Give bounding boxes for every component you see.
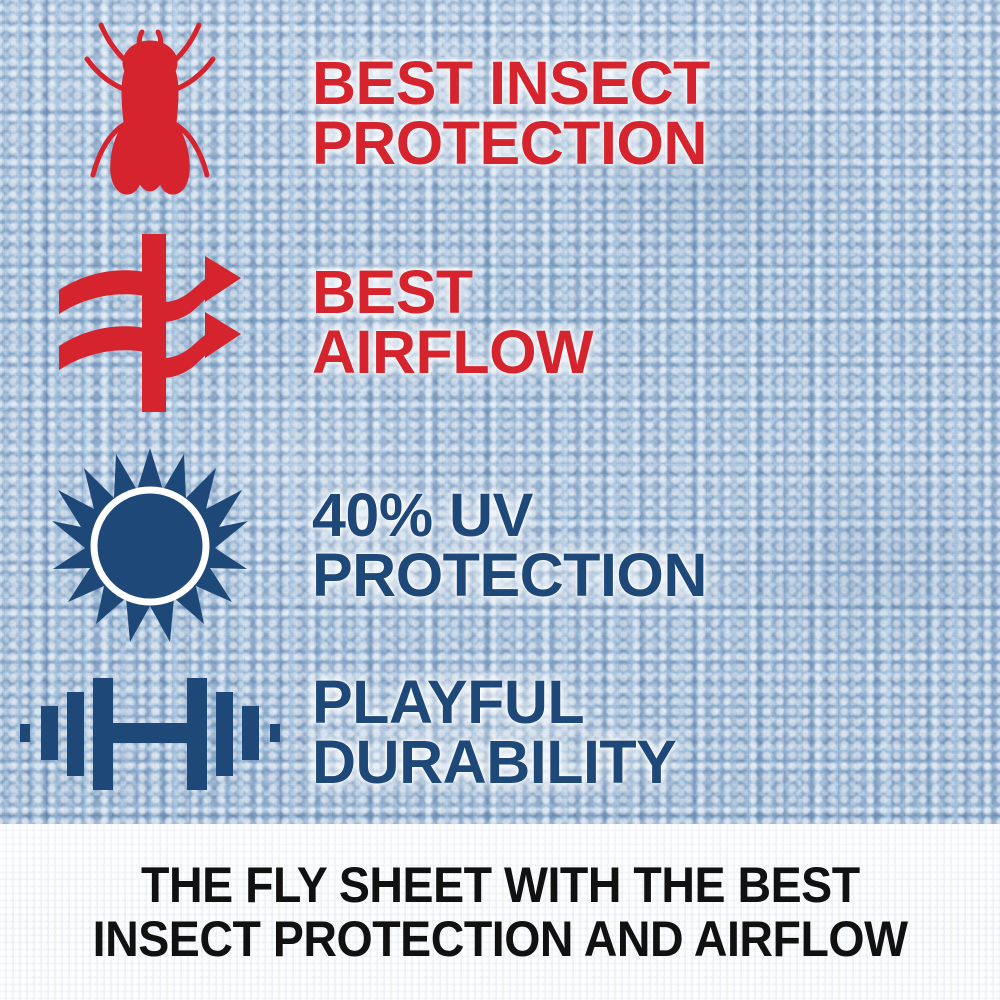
banner-headline-line: INSECT PROTECTION AND AIRFLOW xyxy=(93,912,908,966)
feature-icon-slot xyxy=(0,19,300,209)
banner-headline-line: THE FLY SHEET WITH THE BEST xyxy=(141,858,860,912)
feature-label-uv-protection: 40% UV PROTECTION xyxy=(300,486,1000,606)
feature-icon-slot xyxy=(0,228,300,418)
feature-row-airflow: BEST AIRFLOW xyxy=(0,218,1000,428)
feature-label-line: PROTECTION xyxy=(312,114,1000,174)
feature-label-line: PLAYFUL xyxy=(312,673,1000,733)
feature-label-durability: PLAYFUL DURABILITY xyxy=(300,673,1000,793)
feature-label-line: DURABILITY xyxy=(312,733,1000,793)
feature-label-line: PROTECTION xyxy=(312,546,1000,606)
feature-label-airflow: BEST AIRFLOW xyxy=(300,263,1000,383)
product-feature-poster: BEST INSECT PROTECTION xyxy=(0,0,1000,1000)
feature-icon-slot xyxy=(0,668,300,798)
dumbbell-icon xyxy=(15,668,285,798)
sun-icon xyxy=(50,446,250,646)
airflow-arrows-icon xyxy=(45,228,255,418)
feature-row-durability: PLAYFUL DURABILITY xyxy=(0,645,1000,820)
feature-label-line: AIRFLOW xyxy=(312,323,1000,383)
feature-label-line: 40% UV xyxy=(312,486,1000,546)
feature-icon-slot xyxy=(0,446,300,646)
fly-icon xyxy=(75,19,225,209)
bottom-banner: THE FLY SHEET WITH THE BEST INSECT PROTE… xyxy=(0,824,1000,1000)
feature-row-insect-protection: BEST INSECT PROTECTION xyxy=(0,14,1000,214)
feature-label-insect-protection: BEST INSECT PROTECTION xyxy=(300,54,1000,174)
feature-label-line: BEST INSECT xyxy=(312,54,1000,114)
feature-label-line: BEST xyxy=(312,263,1000,323)
feature-row-uv-protection: 40% UV PROTECTION xyxy=(0,438,1000,653)
feature-list: BEST INSECT PROTECTION xyxy=(0,0,1000,824)
